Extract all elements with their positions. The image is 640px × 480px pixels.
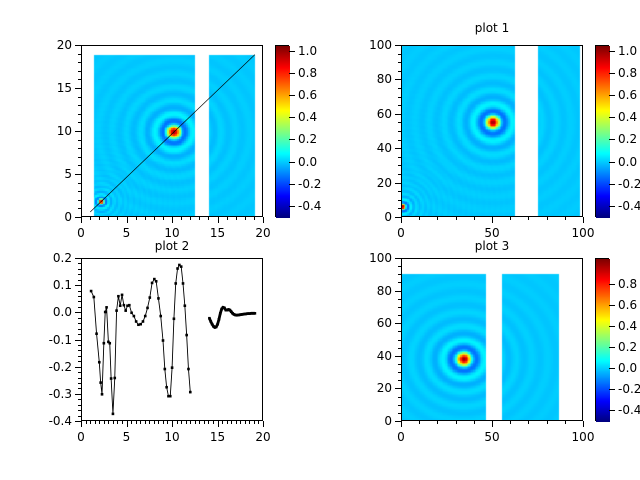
- y-tick-label: 0: [64, 211, 72, 223]
- x-tick-label: 100: [572, 431, 595, 443]
- x-minor-tick: [149, 421, 150, 424]
- y-minor-tick: [398, 282, 401, 283]
- x-minor-tick: [231, 421, 232, 424]
- y-minor-tick: [78, 183, 81, 184]
- x-minor-tick: [117, 217, 118, 220]
- colorbar-tick: [289, 206, 295, 207]
- x-minor-tick: [99, 217, 100, 220]
- y-minor-tick: [78, 416, 81, 417]
- colorbar-tick: [609, 305, 615, 306]
- y-major-tick: [395, 323, 401, 324]
- y-minor-tick: [398, 71, 401, 72]
- colorbar-tick-label: -0.4: [298, 200, 321, 212]
- x-minor-tick: [154, 421, 155, 424]
- x-minor-tick: [99, 421, 100, 424]
- series-marker: [173, 317, 176, 320]
- x-minor-tick: [437, 217, 438, 220]
- colorbar-tick: [289, 139, 295, 140]
- colorbar-tick-label: 0.6: [298, 89, 317, 101]
- x-minor-tick: [199, 217, 200, 220]
- y-minor-tick: [78, 54, 81, 55]
- x-minor-tick: [136, 217, 137, 220]
- y-minor-tick: [78, 329, 81, 330]
- series-marker: [182, 282, 185, 285]
- y-minor-tick: [398, 372, 401, 373]
- x-minor-tick: [528, 421, 529, 424]
- x-minor-tick: [145, 421, 146, 424]
- y-minor-tick: [78, 97, 81, 98]
- y-minor-tick: [398, 131, 401, 132]
- series-marker: [95, 332, 98, 335]
- y-major-tick: [395, 291, 401, 292]
- series-marker: [151, 282, 154, 285]
- y-minor-tick: [398, 140, 401, 141]
- series-marker: [103, 342, 106, 345]
- series-marker: [187, 368, 190, 371]
- y-major-tick: [75, 217, 81, 218]
- x-tick-label: 50: [484, 431, 499, 443]
- colorbar-tick-label: 0.8: [618, 67, 637, 79]
- y-major-tick: [395, 388, 401, 389]
- series-marker: [159, 315, 162, 318]
- series-marker: [115, 309, 118, 312]
- colorbar-tick: [609, 139, 615, 140]
- colorbar-tick: [609, 410, 615, 411]
- y-tick-label: 80: [377, 285, 392, 297]
- y-minor-tick: [398, 54, 401, 55]
- colorbar-tick-label: -0.2: [618, 383, 640, 395]
- y-minor-tick: [78, 405, 81, 406]
- colorbar-tick: [609, 73, 615, 74]
- y-major-tick: [75, 421, 81, 422]
- y-major-tick: [75, 88, 81, 89]
- y-tick-label: 60: [377, 317, 392, 329]
- y-tick-label: 20: [377, 382, 392, 394]
- y-minor-tick: [78, 157, 81, 158]
- panel-title: plot 1: [401, 22, 583, 35]
- x-minor-tick: [419, 421, 420, 424]
- x-minor-tick: [254, 217, 255, 220]
- series-marker: [165, 386, 168, 389]
- x-minor-tick: [419, 217, 420, 220]
- y-minor-tick: [398, 174, 401, 175]
- y-minor-tick: [78, 372, 81, 373]
- x-minor-tick: [528, 217, 529, 220]
- y-major-tick: [75, 258, 81, 259]
- x-minor-tick: [236, 217, 237, 220]
- figure-canvas: 0510152005101520 1.00.80.60.40.20.0-0.2-…: [0, 0, 640, 480]
- y-major-tick: [75, 285, 81, 286]
- colorbar-tick: [609, 95, 615, 96]
- x-major-tick: [81, 217, 82, 223]
- colorbar-tick-label: -0.2: [618, 178, 640, 190]
- x-minor-tick: [136, 421, 137, 424]
- colorbar-gradient: [596, 46, 610, 218]
- colorbar-tick-label: 0.8: [618, 278, 637, 290]
- x-minor-tick: [117, 421, 118, 424]
- x-minor-tick: [236, 421, 237, 424]
- y-minor-tick: [78, 140, 81, 141]
- y-tick-label: 0: [384, 415, 392, 427]
- y-tick-label: 0.1: [53, 279, 72, 291]
- colorbar-tick: [609, 184, 615, 185]
- x-major-tick: [263, 217, 264, 223]
- y-minor-tick: [78, 388, 81, 389]
- y-major-tick: [395, 79, 401, 80]
- series-marker: [99, 381, 102, 384]
- colorbar-tick-label: 0.4: [298, 111, 317, 123]
- y-minor-tick: [398, 315, 401, 316]
- series-marker: [174, 282, 177, 285]
- x-major-tick: [583, 421, 584, 427]
- x-minor-tick: [227, 217, 228, 220]
- y-minor-tick: [398, 208, 401, 209]
- y-minor-tick: [398, 157, 401, 158]
- y-minor-tick: [78, 208, 81, 209]
- series-marker: [137, 323, 140, 326]
- overlay-line: [402, 259, 583, 421]
- series-marker: [215, 326, 218, 329]
- y-minor-tick: [78, 378, 81, 379]
- colorbar-tick-label: 0.4: [618, 320, 637, 332]
- colorbar-tick-label: 0.2: [298, 133, 317, 145]
- series-marker: [142, 320, 145, 323]
- y-tick-label: 5: [64, 168, 72, 180]
- series-line: [209, 307, 255, 327]
- y-minor-tick: [78, 274, 81, 275]
- colorbar-tick: [609, 389, 615, 390]
- y-tick-label: 20: [377, 177, 392, 189]
- x-major-tick: [401, 217, 402, 223]
- x-minor-tick: [95, 421, 96, 424]
- series-marker: [189, 391, 192, 394]
- series-marker: [185, 334, 188, 337]
- colorbar-tick: [289, 162, 295, 163]
- y-minor-tick: [398, 380, 401, 381]
- series-marker: [209, 320, 212, 323]
- panel-title: plot 2: [81, 240, 263, 253]
- x-tick-label: 10: [164, 431, 179, 443]
- y-minor-tick: [78, 263, 81, 264]
- y-minor-tick: [398, 405, 401, 406]
- overlay-line: [402, 46, 583, 217]
- x-minor-tick: [163, 421, 164, 424]
- x-major-tick: [127, 421, 128, 427]
- series-marker: [93, 296, 96, 299]
- x-minor-tick: [245, 217, 246, 220]
- colorbar-tick: [609, 347, 615, 348]
- colorbar-tick-label: -0.2: [298, 178, 321, 190]
- colorbar-tick-label: 0.6: [618, 89, 637, 101]
- x-minor-tick: [565, 421, 566, 424]
- y-minor-tick: [78, 165, 81, 166]
- colorbar-tick: [289, 117, 295, 118]
- y-minor-tick: [78, 410, 81, 411]
- series-marker: [171, 366, 174, 369]
- series-marker: [123, 304, 126, 307]
- y-minor-tick: [78, 383, 81, 384]
- series-marker: [157, 297, 160, 300]
- x-minor-tick: [167, 421, 168, 424]
- x-minor-tick: [154, 217, 155, 220]
- x-minor-tick: [140, 421, 141, 424]
- series-marker: [124, 309, 127, 312]
- colorbar-tick: [289, 95, 295, 96]
- y-minor-tick: [398, 165, 401, 166]
- y-minor-tick: [78, 79, 81, 80]
- series-marker: [146, 307, 149, 310]
- colorbar-tick-label: -0.4: [618, 200, 640, 212]
- y-minor-tick: [78, 356, 81, 357]
- x-major-tick: [172, 421, 173, 427]
- y-major-tick: [75, 131, 81, 132]
- x-major-tick: [401, 421, 402, 427]
- series-marker: [176, 267, 179, 270]
- series-marker: [108, 342, 111, 345]
- y-minor-tick: [398, 364, 401, 365]
- y-minor-tick: [78, 318, 81, 319]
- colorbar-tick-label: 0.0: [618, 156, 637, 168]
- y-tick-label: 0.0: [53, 306, 72, 318]
- panel-bottom-right: plot 3 050100020406080100 0.80.60.40.20.…: [320, 236, 640, 466]
- colorbar-tick: [609, 117, 615, 118]
- y-minor-tick: [78, 280, 81, 281]
- y-minor-tick: [398, 200, 401, 201]
- y-minor-tick: [398, 340, 401, 341]
- y-major-tick: [395, 183, 401, 184]
- y-minor-tick: [78, 361, 81, 362]
- x-major-tick: [81, 421, 82, 427]
- y-tick-label: 40: [377, 142, 392, 154]
- series-line: [91, 265, 190, 414]
- x-minor-tick: [199, 421, 200, 424]
- x-minor-tick: [186, 421, 187, 424]
- series-marker: [180, 265, 183, 268]
- colorbar-tick: [289, 184, 295, 185]
- y-tick-label: 10: [57, 125, 72, 137]
- y-minor-tick: [398, 122, 401, 123]
- y-minor-tick: [398, 331, 401, 332]
- x-minor-tick: [249, 421, 250, 424]
- x-minor-tick: [158, 421, 159, 424]
- y-major-tick: [395, 217, 401, 218]
- x-minor-tick: [474, 421, 475, 424]
- y-major-tick: [75, 174, 81, 175]
- colorbar-tick-label: 0.8: [298, 67, 317, 79]
- series-marker: [130, 311, 133, 314]
- y-minor-tick: [398, 105, 401, 106]
- y-minor-tick: [78, 122, 81, 123]
- series-marker: [144, 315, 147, 318]
- y-major-tick: [75, 394, 81, 395]
- y-minor-tick: [78, 307, 81, 308]
- y-minor-tick: [398, 97, 401, 98]
- y-minor-tick: [78, 345, 81, 346]
- series-marker: [119, 304, 122, 307]
- diagonal-guide-line: [90, 55, 255, 212]
- y-minor-tick: [398, 88, 401, 89]
- series-marker: [110, 377, 113, 380]
- series-marker: [133, 315, 136, 318]
- y-major-tick: [395, 356, 401, 357]
- x-minor-tick: [240, 421, 241, 424]
- series-marker: [169, 395, 172, 398]
- y-major-tick: [395, 114, 401, 115]
- y-tick-label: 100: [369, 39, 392, 51]
- series-marker: [208, 317, 211, 320]
- y-minor-tick: [398, 307, 401, 308]
- y-minor-tick: [398, 191, 401, 192]
- plot-area: [81, 258, 263, 421]
- y-tick-label: -0.2: [49, 361, 72, 373]
- y-minor-tick: [78, 301, 81, 302]
- colorbar-tick: [289, 51, 295, 52]
- y-tick-label: 40: [377, 350, 392, 362]
- x-minor-tick: [195, 421, 196, 424]
- x-minor-tick: [131, 421, 132, 424]
- x-major-tick: [492, 421, 493, 427]
- colorbar: [595, 258, 609, 421]
- colorbar-tick-label: 0.0: [618, 362, 637, 374]
- colorbar-tick: [609, 368, 615, 369]
- x-tick-label: 15: [210, 431, 225, 443]
- y-minor-tick: [398, 413, 401, 414]
- y-tick-label: 20: [57, 39, 72, 51]
- x-tick-label: 20: [255, 431, 270, 443]
- x-minor-tick: [208, 217, 209, 220]
- plot-area: [401, 45, 583, 217]
- y-tick-label: 60: [377, 108, 392, 120]
- colorbar-tick-label: -0.4: [618, 404, 640, 416]
- x-minor-tick: [547, 421, 548, 424]
- y-minor-tick: [78, 71, 81, 72]
- series-marker: [164, 368, 167, 371]
- y-minor-tick: [78, 399, 81, 400]
- series-marker: [254, 312, 257, 315]
- x-major-tick: [218, 421, 219, 427]
- x-minor-tick: [222, 421, 223, 424]
- series-marker: [162, 339, 165, 342]
- x-minor-tick: [547, 217, 548, 220]
- x-minor-tick: [86, 421, 87, 424]
- series-marker: [216, 323, 219, 326]
- series-marker: [149, 296, 152, 299]
- y-minor-tick: [78, 334, 81, 335]
- x-minor-tick: [213, 421, 214, 424]
- x-minor-tick: [108, 217, 109, 220]
- y-minor-tick: [78, 291, 81, 292]
- x-tick-label: 0: [77, 431, 85, 443]
- x-minor-tick: [510, 217, 511, 220]
- y-minor-tick: [78, 200, 81, 201]
- series-marker: [98, 361, 101, 364]
- series-marker: [128, 304, 131, 307]
- plot-area: [81, 45, 263, 217]
- x-minor-tick: [227, 421, 228, 424]
- series-marker: [104, 311, 107, 314]
- y-minor-tick: [398, 274, 401, 275]
- overlay-line: [82, 46, 263, 217]
- x-minor-tick: [254, 421, 255, 424]
- panel-top-right: plot 1 050100020406080100 1.00.80.60.40.…: [320, 18, 640, 240]
- colorbar-gradient: [276, 46, 290, 218]
- y-tick-label: 0: [384, 211, 392, 223]
- y-minor-tick: [78, 191, 81, 192]
- colorbar-tick-label: 1.0: [298, 45, 317, 57]
- y-minor-tick: [78, 114, 81, 115]
- y-tick-label: -0.1: [49, 334, 72, 346]
- line-series: [82, 259, 263, 421]
- x-tick-label: 0: [397, 431, 405, 443]
- series-marker: [112, 413, 115, 416]
- x-minor-tick: [190, 217, 191, 220]
- y-major-tick: [75, 312, 81, 313]
- y-minor-tick: [398, 348, 401, 349]
- x-major-tick: [172, 217, 173, 223]
- series-marker: [121, 294, 124, 297]
- y-minor-tick: [398, 397, 401, 398]
- panel-title: plot 3: [401, 240, 583, 253]
- y-minor-tick: [78, 269, 81, 270]
- colorbar: [595, 45, 609, 217]
- x-tick-label: 5: [123, 431, 131, 443]
- series-marker: [135, 320, 138, 323]
- colorbar-tick-label: 0.2: [618, 133, 637, 145]
- y-tick-label: 80: [377, 73, 392, 85]
- x-minor-tick: [474, 217, 475, 220]
- y-major-tick: [75, 340, 81, 341]
- colorbar-tick: [609, 206, 615, 207]
- x-major-tick: [263, 421, 264, 427]
- y-major-tick: [395, 258, 401, 259]
- x-minor-tick: [145, 217, 146, 220]
- series-marker: [139, 323, 142, 326]
- x-minor-tick: [258, 421, 259, 424]
- x-minor-tick: [565, 217, 566, 220]
- colorbar-tick: [609, 284, 615, 285]
- series-marker: [218, 318, 221, 321]
- y-major-tick: [395, 45, 401, 46]
- colorbar-tick-label: 0.0: [298, 156, 317, 168]
- colorbar-tick-label: 0.6: [618, 299, 637, 311]
- y-minor-tick: [398, 266, 401, 267]
- x-minor-tick: [245, 421, 246, 424]
- y-minor-tick: [78, 296, 81, 297]
- x-major-tick: [492, 217, 493, 223]
- x-minor-tick: [113, 421, 114, 424]
- x-minor-tick: [456, 217, 457, 220]
- y-major-tick: [75, 367, 81, 368]
- x-minor-tick: [163, 217, 164, 220]
- colorbar-gradient: [596, 259, 610, 422]
- y-tick-label: -0.4: [49, 415, 72, 427]
- colorbar-tick: [289, 73, 295, 74]
- x-minor-tick: [104, 421, 105, 424]
- y-minor-tick: [78, 350, 81, 351]
- colorbar-tick: [609, 326, 615, 327]
- series-marker: [90, 290, 93, 293]
- series-marker: [184, 304, 187, 307]
- series-marker: [117, 295, 120, 298]
- x-minor-tick: [122, 421, 123, 424]
- y-tick-label: 0.2: [53, 252, 72, 264]
- y-major-tick: [395, 421, 401, 422]
- y-minor-tick: [78, 148, 81, 149]
- series-marker: [155, 280, 158, 283]
- series-marker: [101, 393, 104, 396]
- y-major-tick: [395, 148, 401, 149]
- panel-top-left: 0510152005101520 1.00.80.60.40.20.0-0.2-…: [0, 18, 320, 240]
